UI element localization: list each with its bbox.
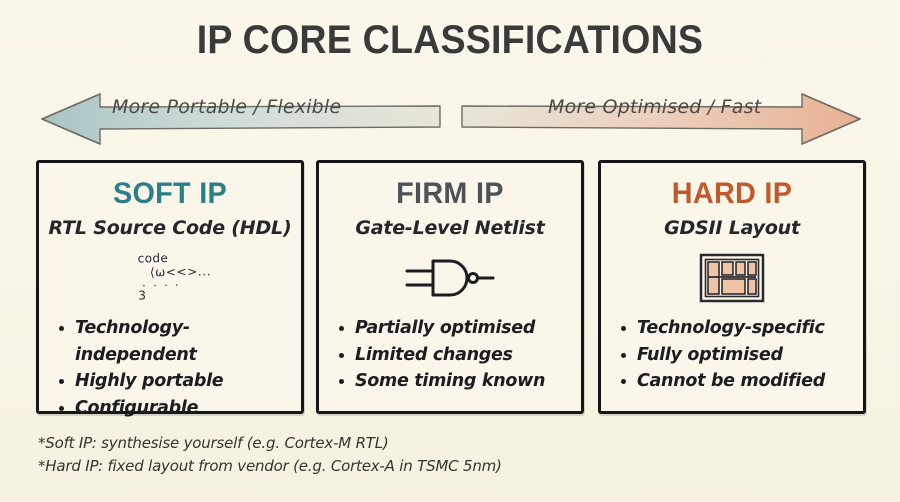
bullet-list-soft-ip: Technology-independent Highly portable C… [39, 315, 301, 421]
card-soft-ip[interactable]: SOFT IP RTL Source Code (HDL) code ⟨ѡ<<>… [36, 160, 304, 414]
card-visual-firm-ip [319, 245, 581, 311]
list-item: Technology-specific [621, 315, 863, 342]
list-item: Highly portable [59, 368, 301, 395]
list-item: Some timing known [339, 368, 581, 395]
card-subtitle-soft-ip: RTL Source Code (HDL) [39, 217, 301, 239]
footnote-soft-ip: *Soft IP: synthesise yourself (e.g. Cort… [38, 432, 502, 455]
bullet-list-hard-ip: Technology-specific Fully optimised Cann… [601, 315, 863, 395]
list-item: Fully optimised [621, 342, 863, 369]
footnote-group: *Soft IP: synthesise yourself (e.g. Cort… [38, 432, 502, 479]
list-item: Cannot be modified [621, 368, 863, 395]
card-subtitle-firm-ip: Gate-Level Netlist [319, 217, 581, 239]
card-title-hard-ip: HARD IP [606, 177, 858, 211]
list-item: Technology-independent [59, 315, 301, 368]
card-visual-soft-ip: code ⟨ѡ<<>... · · · · 3 [39, 245, 301, 311]
list-item: Partially optimised [339, 315, 581, 342]
left-spectrum-label: More Portable / Flexible [112, 96, 341, 118]
card-visual-hard-ip [601, 245, 863, 311]
page-title: IP CORE CLASSIFICATIONS [27, 18, 873, 63]
card-hard-ip[interactable]: HARD IP GDSII Layout Technology-specific… [598, 160, 866, 414]
list-item: Limited changes [339, 342, 581, 369]
gdsii-layout-icon [699, 253, 765, 303]
right-spectrum-label: More Optimised / Fast [548, 96, 761, 118]
card-title-soft-ip: SOFT IP [44, 177, 296, 211]
ip-card-group: SOFT IP RTL Source Code (HDL) code ⟨ѡ<<>… [0, 160, 900, 420]
card-firm-ip[interactable]: FIRM IP Gate-Level Netlist Partially opt… [316, 160, 584, 414]
nand-gate-icon [403, 256, 497, 300]
code-scribble-icon: code ⟨ѡ<<>... · · · · 3 [128, 252, 212, 304]
bullet-list-firm-ip: Partially optimised Limited changes Some… [319, 315, 581, 395]
card-title-firm-ip: FIRM IP [324, 177, 576, 211]
card-subtitle-hard-ip: GDSII Layout [601, 217, 863, 239]
footnote-hard-ip: *Hard IP: fixed layout from vendor (e.g.… [38, 455, 502, 478]
list-item: Configurable [59, 395, 301, 422]
